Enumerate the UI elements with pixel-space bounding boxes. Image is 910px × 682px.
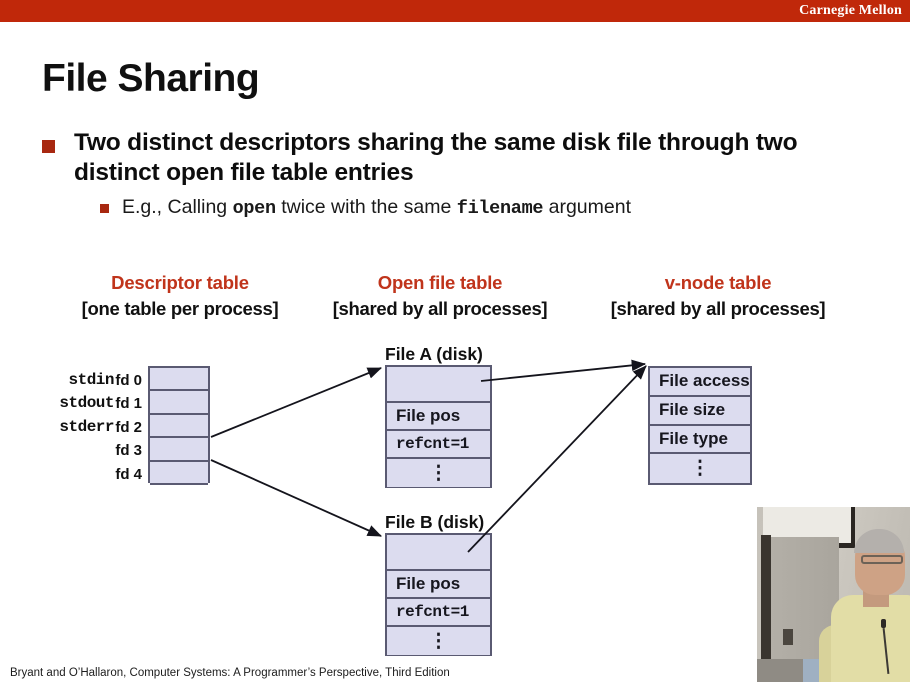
arrow-fd3-to-file-a bbox=[211, 368, 381, 437]
open-file-table-a: File pos refcnt=1 ⋮ bbox=[385, 365, 492, 488]
descriptor-table bbox=[148, 366, 210, 483]
column-heading-open-file: Open file table [shared by all processes… bbox=[320, 272, 560, 320]
file-b-row-filepos: File pos bbox=[387, 571, 490, 599]
descriptor-row-fd2 bbox=[150, 415, 208, 438]
vnode-row-file-size: File size bbox=[650, 397, 750, 426]
lecturer-video-overlay[interactable] bbox=[757, 507, 910, 682]
webcam-person-torso bbox=[831, 595, 910, 682]
vnode-heading: v-node table bbox=[578, 272, 858, 294]
column-heading-vnode: v-node table [shared by all processes] bbox=[578, 272, 858, 320]
std-label-stdout: stdout bbox=[28, 394, 114, 412]
descriptor-row-fd0 bbox=[150, 368, 208, 391]
bullet-primary: Two distinct descriptors sharing the sam… bbox=[42, 128, 852, 188]
std-label-stderr: stderr bbox=[28, 418, 114, 436]
open-file-subheading: [shared by all processes] bbox=[320, 298, 560, 320]
file-a-row-pointer bbox=[387, 367, 490, 403]
descriptor-subheading: [one table per process] bbox=[40, 298, 320, 320]
fd-label-3: fd 3 bbox=[108, 442, 142, 459]
vnode-row-file-type: File type bbox=[650, 426, 750, 455]
column-heading-descriptor: Descriptor table [one table per process] bbox=[40, 272, 320, 320]
bullet-primary-text: Two distinct descriptors sharing the sam… bbox=[74, 128, 852, 188]
file-b-row-refcnt: refcnt=1 bbox=[387, 599, 490, 627]
caption-file-a: File A (disk) bbox=[385, 344, 483, 365]
fd-label-0: fd 0 bbox=[108, 372, 142, 389]
bullet-secondary-prefix: E.g., Calling bbox=[122, 196, 233, 218]
file-b-row-pointer bbox=[387, 535, 490, 571]
bullet-secondary: E.g., Calling open twice with the same f… bbox=[100, 196, 860, 220]
caption-file-b: File B (disk) bbox=[385, 512, 484, 533]
bullet-secondary-suffix: argument bbox=[543, 196, 631, 218]
file-b-row-ellipsis: ⋮ bbox=[387, 627, 490, 655]
std-label-stdin: stdin bbox=[38, 371, 114, 389]
descriptor-row-fd1 bbox=[150, 391, 208, 414]
fd-label-2: fd 2 bbox=[108, 419, 142, 436]
webcam-person-glasses bbox=[861, 555, 903, 564]
arrow-fd4-to-file-b bbox=[211, 460, 381, 536]
arrow-file-b-to-vnode bbox=[468, 366, 646, 552]
footer-attribution: Bryant and O’Hallaron, Computer Systems:… bbox=[10, 667, 450, 679]
webcam-lapel-microphone bbox=[881, 619, 886, 628]
vnode-table: File access File size File type ⋮ bbox=[648, 366, 752, 485]
descriptor-heading: Descriptor table bbox=[40, 272, 320, 294]
vnode-row-file-access: File access bbox=[650, 368, 750, 397]
vnode-row-ellipsis: ⋮ bbox=[650, 454, 750, 483]
brand-label: Carnegie Mellon bbox=[799, 3, 902, 19]
fd-label-4: fd 4 bbox=[108, 466, 142, 483]
open-file-heading: Open file table bbox=[320, 272, 560, 294]
code-filename: filename bbox=[457, 198, 543, 219]
file-a-row-ellipsis: ⋮ bbox=[387, 459, 490, 487]
bullet-secondary-text: E.g., Calling open twice with the same f… bbox=[122, 196, 860, 220]
descriptor-row-fd4 bbox=[150, 462, 208, 485]
descriptor-row-fd3 bbox=[150, 438, 208, 461]
fd-label-1: fd 1 bbox=[108, 395, 142, 412]
file-a-row-filepos: File pos bbox=[387, 403, 490, 431]
arrow-file-a-to-vnode bbox=[481, 364, 645, 381]
slide: Carnegie Mellon File Sharing Two distinc… bbox=[0, 0, 910, 682]
file-a-row-refcnt: refcnt=1 bbox=[387, 431, 490, 459]
vnode-subheading: [shared by all processes] bbox=[578, 298, 858, 320]
bullet-square-icon bbox=[42, 140, 55, 153]
code-open: open bbox=[233, 198, 276, 219]
open-file-table-b: File pos refcnt=1 ⋮ bbox=[385, 533, 492, 656]
webcam-door-handle bbox=[783, 629, 793, 645]
page-title: File Sharing bbox=[42, 57, 259, 101]
brand-bar: Carnegie Mellon bbox=[0, 0, 910, 22]
bullet-secondary-middle: twice with the same bbox=[276, 196, 457, 218]
bullet-square-small-icon bbox=[100, 204, 109, 213]
